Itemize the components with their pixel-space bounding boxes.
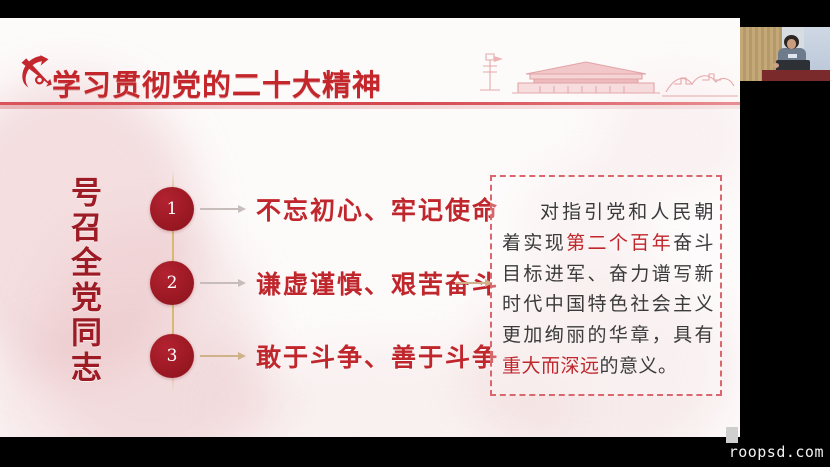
arrow-icon bbox=[200, 208, 248, 210]
laptop-icon bbox=[776, 60, 810, 70]
presentation-slide: 学习贯彻党的二十大精神 bbox=[0, 18, 740, 437]
list-item-label: 敢于斗争、善于斗争 bbox=[256, 338, 499, 374]
quote-text: 对指引党和人民朝着实现第二个百年奋斗目标进军、奋力谱写新时代中国特色社会主义更加… bbox=[502, 197, 714, 382]
header-divider-shadow bbox=[0, 105, 740, 109]
connector-arrow-icon bbox=[455, 282, 493, 284]
hammer-sickle-icon bbox=[10, 50, 56, 94]
arrow-icon bbox=[200, 282, 248, 284]
arrow-icon bbox=[200, 355, 248, 357]
slide-header: 学习贯彻党的二十大精神 bbox=[0, 18, 740, 102]
quote-highlight-1: 第二个百年 bbox=[566, 232, 673, 254]
list-item[interactable]: 3 敢于斗争、善于斗争 bbox=[150, 333, 499, 379]
quote-highlight-2: 重大而深远 bbox=[502, 355, 600, 377]
list-item-number: 2 bbox=[150, 261, 194, 305]
vertical-heading: 号召全党同志 bbox=[62, 176, 104, 386]
list-item[interactable]: 2 谦虚谨慎、艰苦奋斗 bbox=[150, 260, 499, 306]
list-item-number: 1 bbox=[150, 187, 194, 231]
list-item-label: 不忘初心、牢记使命 bbox=[256, 191, 499, 227]
podium bbox=[762, 70, 830, 81]
watermark: roopsd.com bbox=[729, 443, 824, 461]
list-item[interactable]: 1 不忘初心、牢记使命 bbox=[150, 186, 499, 232]
page-title: 学习贯彻党的二十大精神 bbox=[52, 62, 382, 104]
tiananmen-great-wall-icon bbox=[430, 40, 740, 102]
quote-part-3: 的意义。 bbox=[600, 355, 678, 377]
presenter-video-overlay[interactable] bbox=[740, 27, 830, 81]
screen-capture: 学习贯彻党的二十大精神 bbox=[0, 0, 830, 467]
presenter-face bbox=[787, 39, 796, 49]
list-item-number: 3 bbox=[150, 334, 194, 378]
watermark-chip bbox=[726, 427, 738, 443]
presenter-hand bbox=[773, 63, 779, 68]
presenter-badge bbox=[788, 54, 797, 58]
quote-callout-box: 对指引党和人民朝着实现第二个百年奋斗目标进军、奋力谱写新时代中国特色社会主义更加… bbox=[490, 175, 722, 396]
